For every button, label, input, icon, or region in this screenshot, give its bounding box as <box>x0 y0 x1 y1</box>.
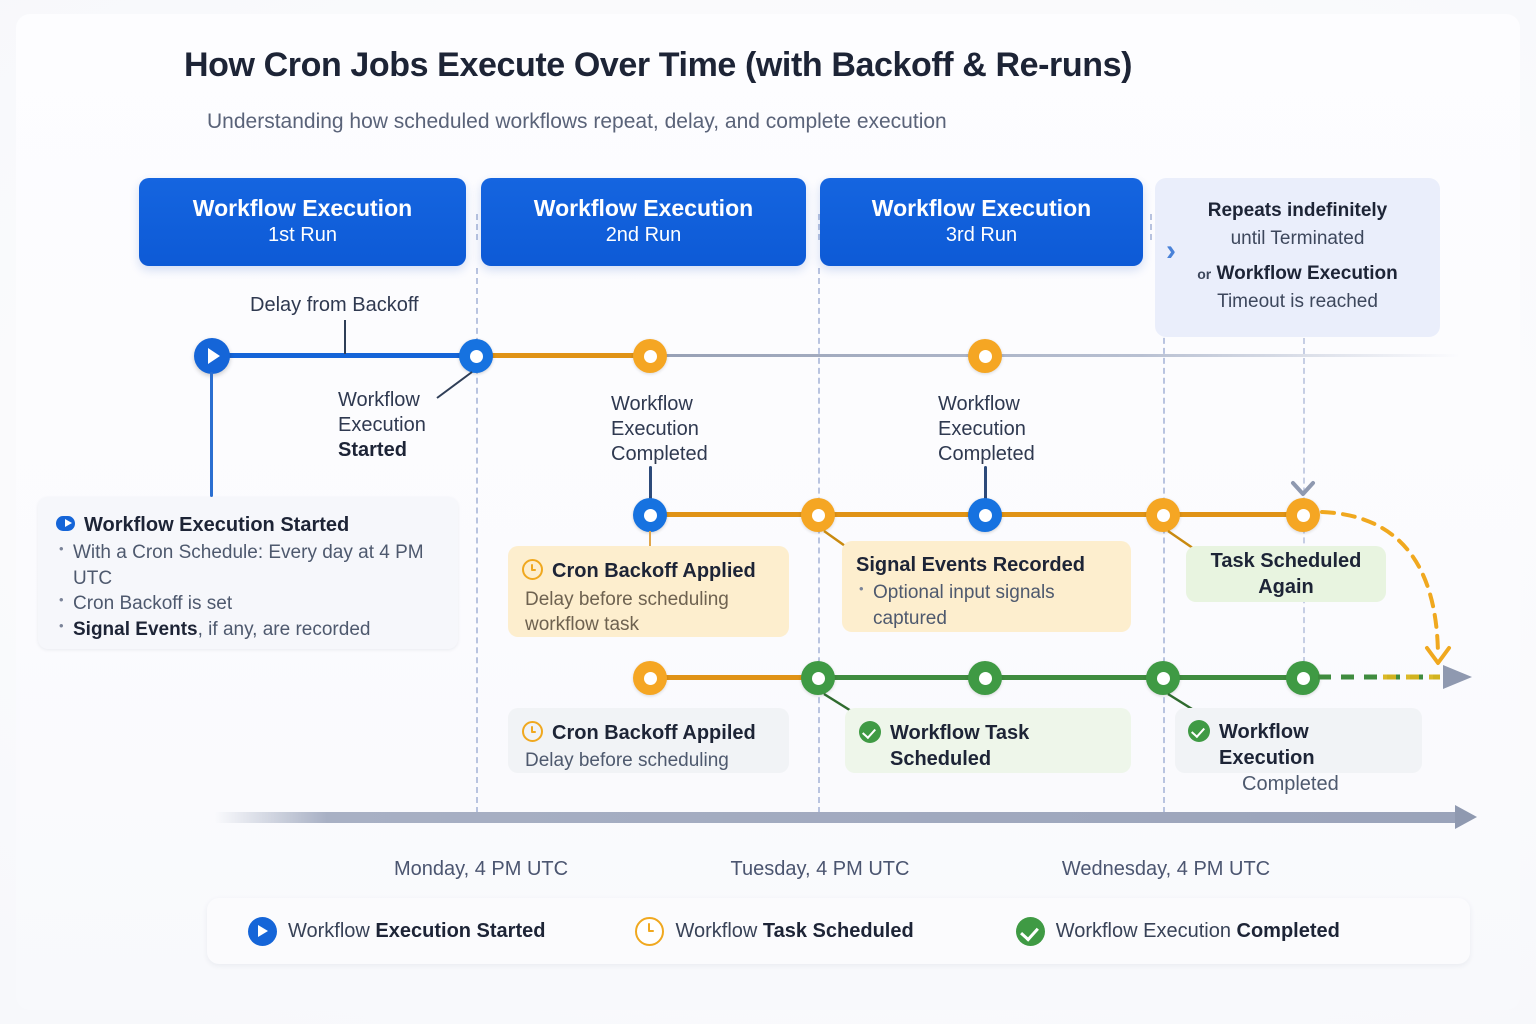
card-cron-backoff-applied-bottom: Cron Backoff Appiled Delay before schedu… <box>508 708 789 773</box>
clock-icon <box>635 917 664 946</box>
segment-row3-green-b <box>996 675 1154 680</box>
clock-icon <box>522 721 543 742</box>
node-row2-scheduled-2[interactable] <box>1146 498 1180 532</box>
card-execution-started-title: Workflow Execution Started <box>84 512 349 538</box>
run-box-1-title: Workflow Execution <box>193 195 412 221</box>
repeat-or-word: or <box>1197 266 1211 282</box>
node-row3-completed-4[interactable] <box>1286 661 1320 695</box>
time-axis <box>215 812 1461 823</box>
segment-row3-orange <box>662 675 808 680</box>
segment-row2-a <box>662 512 808 517</box>
time-axis-arrow <box>1455 805 1477 829</box>
card-signal-events-bullets: Optional input signals captured <box>856 580 1117 631</box>
run-box-2-label: 2nd Run <box>606 222 682 249</box>
card-cron-backoff-mid-header: Cron Backoff Applied <box>522 558 773 584</box>
legend-item-0-bold: Execution Started <box>375 920 545 942</box>
card-signal-events-title: Signal Events Recorded <box>856 552 1085 578</box>
chevron-right-icon: › <box>1166 236 1188 266</box>
run-box-3-label: 3rd Run <box>946 222 1017 249</box>
card-execution-started: Workflow Execution Started With a Cron S… <box>38 497 458 649</box>
legend-item-2-pre: Workflow Execution <box>1056 920 1237 942</box>
segment-row1-blue <box>228 353 480 358</box>
run-box-3[interactable]: Workflow Execution 3rd Run <box>820 178 1143 266</box>
legend-item-task-scheduled[interactable]: Workflow Task Scheduled <box>635 917 913 946</box>
legend-item-execution-started[interactable]: Workflow Execution Started <box>248 917 545 946</box>
segment-row3-green-a <box>828 675 976 680</box>
annotation-completed-1: Workflow Execution Completed <box>611 392 708 467</box>
annotation-completed-2-l3: Completed <box>938 442 1035 467</box>
node-row3-completed-3[interactable] <box>1146 661 1180 695</box>
card-task-scheduled-again-l1: Task Scheduled <box>1211 548 1362 574</box>
card-workflow-task-scheduled-l1: Workflow Task <box>890 720 1029 746</box>
check-icon <box>859 721 881 743</box>
list-item: With a Cron Schedule: Every day at 4 PM … <box>56 540 440 591</box>
node-row1-scheduled-2[interactable] <box>968 339 1002 373</box>
card-cron-backoff-bottom-title: Cron Backoff Appiled <box>552 720 756 746</box>
repeat-line-1: Repeats indefinitely <box>1208 197 1388 226</box>
card-cron-backoff-bottom-sub: Delay before scheduling <box>525 748 773 773</box>
node-row2-scheduled-3[interactable] <box>1286 498 1320 532</box>
card-task-scheduled-again-l2: Again <box>1258 574 1314 600</box>
card-signal-events-header: Signal Events Recorded <box>856 552 1117 578</box>
axis-tick-monday: Monday, 4 PM UTC <box>394 858 568 881</box>
segment-row2-b <box>828 512 976 517</box>
run-box-3-title: Workflow Execution <box>872 195 1091 221</box>
card-cron-backoff-applied-mid: Cron Backoff Applied Delay before schedu… <box>508 546 789 637</box>
node-execution-started-play[interactable] <box>194 338 230 374</box>
node-row1-scheduled-1[interactable] <box>633 339 667 373</box>
legend-item-1-pre: Workflow <box>675 920 762 942</box>
node-row2-scheduled-1[interactable] <box>801 498 835 532</box>
legend-item-2-bold: Completed <box>1237 920 1340 942</box>
signal-events-bold: Signal Events <box>73 619 198 640</box>
guide-line-tuesday <box>818 268 820 813</box>
card-workflow-execution-completed: Workflow Execution Completed <box>1175 708 1422 773</box>
card-cron-backoff-bottom-header: Cron Backoff Appiled <box>522 720 773 746</box>
segment-row2-d <box>1173 512 1295 517</box>
legend-item-1-bold: Task Scheduled <box>763 920 914 942</box>
card-workflow-execution-completed-l1: Workflow Execution <box>1219 719 1409 771</box>
legend-item-execution-completed[interactable]: Workflow Execution Completed <box>1016 917 1340 946</box>
guide-stub-1 <box>476 214 478 240</box>
axis-tick-wednesday: Wednesday, 4 PM UTC <box>1062 858 1270 881</box>
annotation-started-l1: Workflow <box>338 388 426 413</box>
check-icon <box>1188 720 1210 742</box>
repeats-indefinitely-box: Repeats indefinitely until Terminated or… <box>1155 178 1440 337</box>
run-box-2-title: Workflow Execution <box>534 195 753 221</box>
repeat-line-2: until Terminated <box>1231 225 1365 254</box>
play-icon <box>248 917 277 946</box>
annotation-started: Workflow Execution Started <box>338 388 426 463</box>
play-icon <box>56 516 75 531</box>
annotation-delay-from-backoff: Delay from Backoff <box>250 293 419 318</box>
annotation-completed-2: Workflow Execution Completed <box>938 392 1035 467</box>
diagram-canvas: How Cron Jobs Execute Over Time (with Ba… <box>0 0 1536 1024</box>
annotation-completed-1-l2: Execution <box>611 417 708 442</box>
card-workflow-execution-completed-header: Workflow Execution <box>1188 719 1409 771</box>
legend-item-0-pre: Workflow <box>288 920 375 942</box>
card-task-scheduled-again: Task Scheduled Again <box>1186 546 1386 602</box>
run-box-1-label: 1st Run <box>268 222 337 249</box>
repeat-line-3: or Workflow Execution <box>1197 259 1398 288</box>
card-execution-started-bullets: With a Cron Schedule: Every day at 4 PM … <box>56 540 440 643</box>
annotation-completed-2-l1: Workflow <box>938 392 1035 417</box>
legend: Workflow Execution Started Workflow Task… <box>207 898 1470 964</box>
annotation-started-l2: Execution <box>338 413 426 438</box>
play-icon <box>208 348 220 364</box>
card-execution-started-header: Workflow Execution Started <box>56 512 440 538</box>
node-row3-completed-2[interactable] <box>968 661 1002 695</box>
card-workflow-task-scheduled-header: Workflow Task <box>859 720 1115 746</box>
node-row2-started-2[interactable] <box>968 498 1002 532</box>
card-workflow-task-scheduled-l2: Scheduled <box>890 746 1115 772</box>
clock-icon <box>522 559 543 580</box>
card-workflow-execution-completed-l2: Completed <box>1242 771 1409 797</box>
node-row2-started-1[interactable] <box>633 498 667 532</box>
card-workflow-task-scheduled: Workflow Task Scheduled <box>845 708 1131 773</box>
list-item: Optional input signals captured <box>856 580 1117 631</box>
check-icon <box>1016 917 1045 946</box>
axis-tick-tuesday: Tuesday, 4 PM UTC <box>731 858 910 881</box>
leader-delay-from-backoff <box>344 320 346 354</box>
annotation-completed-1-l1: Workflow <box>611 392 708 417</box>
card-cron-backoff-mid-title: Cron Backoff Applied <box>552 558 756 584</box>
card-cron-backoff-mid-sub: Delay before scheduling workflow task <box>525 587 773 637</box>
segment-row1-orange <box>488 353 656 358</box>
segment-row1-grey <box>660 354 1460 357</box>
segment-row2-c <box>996 512 1154 517</box>
annotation-completed-2-l2: Execution <box>938 417 1035 442</box>
repeat-line-3-bold: Workflow Execution <box>1217 263 1398 284</box>
node-row1-started[interactable] <box>459 339 493 373</box>
signal-events-rest: , if any, are recorded <box>198 619 371 640</box>
run-box-1[interactable]: Workflow Execution 1st Run <box>139 178 466 266</box>
annotation-started-l3: Started <box>338 438 426 463</box>
card-signal-events-recorded: Signal Events Recorded Optional input si… <box>842 541 1131 632</box>
segment-row3-green-c <box>1173 675 1295 680</box>
page-subtitle: Understanding how scheduled workflows re… <box>207 110 947 134</box>
page-title: How Cron Jobs Execute Over Time (with Ba… <box>184 46 1132 85</box>
guide-stub-3 <box>1150 214 1152 240</box>
node-row3-completed-1[interactable] <box>801 661 835 695</box>
guide-line-wednesday <box>1163 268 1165 813</box>
connector-left-vertical <box>210 372 213 497</box>
run-box-2[interactable]: Workflow Execution 2nd Run <box>481 178 806 266</box>
node-row3-scheduled[interactable] <box>633 661 667 695</box>
list-item: Cron Backoff is set <box>56 591 440 617</box>
annotation-completed-1-l3: Completed <box>611 442 708 467</box>
repeat-line-4: Timeout is reached <box>1217 288 1378 317</box>
list-item: Signal Events, if any, are recorded <box>56 617 440 643</box>
